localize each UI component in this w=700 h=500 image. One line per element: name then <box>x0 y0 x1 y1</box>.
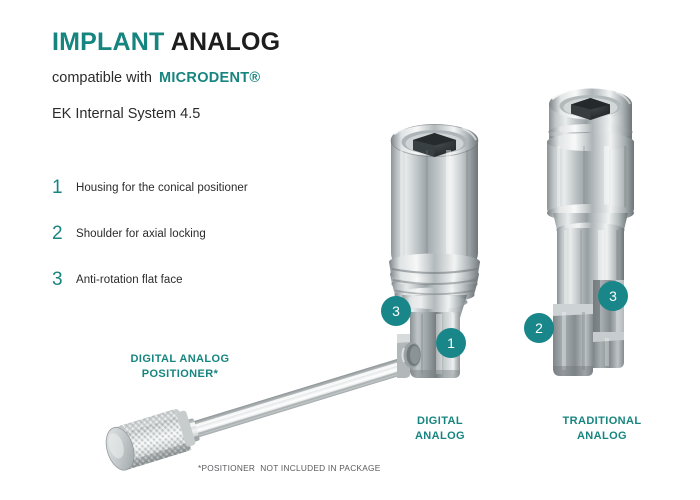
footnote-text: *POSITIONER NOT INCLUDED IN PACKAGE <box>198 463 381 473</box>
system-line: EK Internal System 4.5 <box>52 106 200 122</box>
legend-item-2: 2 Shoulder for axial locking <box>52 224 352 244</box>
legend-number-3: 3 <box>52 270 76 289</box>
caption-traditional-analog: TRADITIONAL ANALOG <box>530 414 674 444</box>
caption-positioner: DIGITAL ANALOG POSITIONER* <box>85 352 275 382</box>
legend-item-3: 3 Anti-rotation flat face <box>52 270 352 290</box>
legend-number-2: 2 <box>52 224 76 243</box>
legend-list: 1 Housing for the conical positioner 2 S… <box>52 178 352 316</box>
callout-badge-traditional-flat-face[interactable]: 3 <box>598 281 628 311</box>
legend-number-1: 1 <box>52 178 76 197</box>
legend-label-1: Housing for the conical positioner <box>76 178 248 195</box>
callout-badge-traditional-shoulder[interactable]: 2 <box>524 313 554 343</box>
caption-digital-analog: DIGITAL ANALOG <box>382 414 498 444</box>
page-title-primary: IMPLANT <box>52 28 165 56</box>
page-title-secondary: ANALOG <box>171 28 281 56</box>
legend-label-2: Shoulder for axial locking <box>76 224 206 241</box>
poster-canvas: IMPLANT ANALOG compatible withMICRODENT®… <box>0 0 700 500</box>
legend-label-3: Anti-rotation flat face <box>76 270 183 287</box>
legend-item-1: 1 Housing for the conical positioner <box>52 178 352 198</box>
callout-badge-digital-flat-face[interactable]: 3 <box>381 296 411 326</box>
brand-name: MICRODENT® <box>159 70 260 86</box>
callout-badge-digital-housing[interactable]: 1 <box>436 328 466 358</box>
page-title: IMPLANT ANALOG <box>52 28 280 57</box>
compatibility-prefix: compatible with <box>52 70 152 86</box>
compatibility-line: compatible withMICRODENT® <box>52 70 260 86</box>
